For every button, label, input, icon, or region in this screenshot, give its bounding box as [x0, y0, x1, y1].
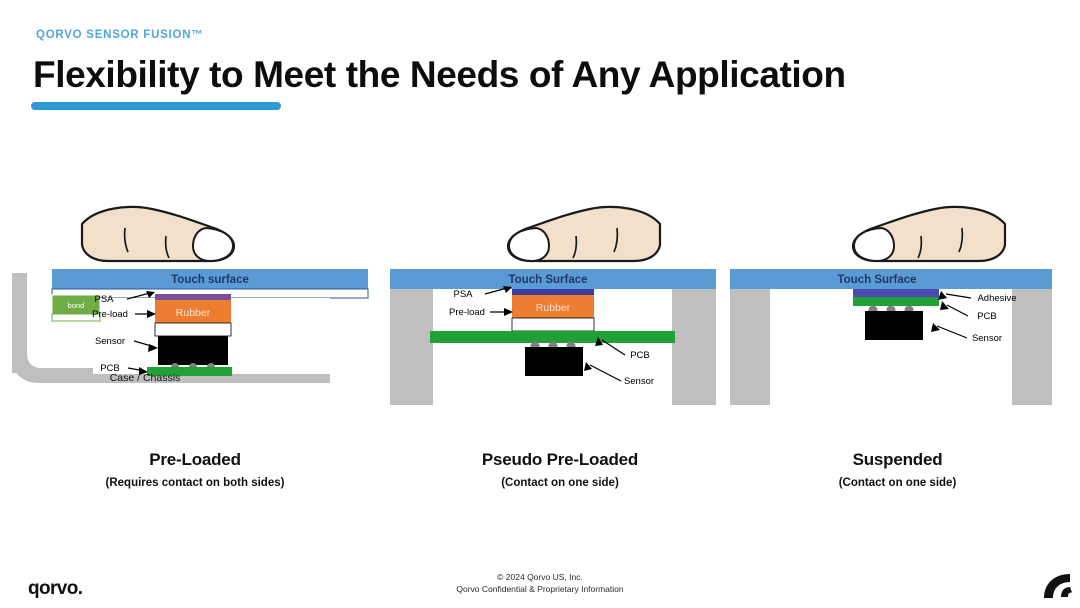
- psa-layer-2: [512, 289, 594, 295]
- callout-pcb-3: PCB: [977, 311, 997, 322]
- callout-sensor-2: Sensor: [624, 376, 654, 387]
- panel-suspended: Touch Surface Adhesive: [725, 195, 1080, 410]
- case-chassis-label: Case / Chassis: [110, 372, 181, 384]
- caption-suspended: Suspended (Contact on one side): [720, 450, 1075, 489]
- callout-sensor-3: Sensor: [972, 333, 1002, 344]
- touch-surface-label-1: Touch surface: [171, 274, 249, 286]
- rubber-label-2: Rubber: [536, 302, 571, 314]
- bond-label: bond: [68, 301, 85, 310]
- callout-pcb-2: PCB: [630, 350, 650, 361]
- adhesive-layer-3: [853, 289, 939, 297]
- caption-title-3: Suspended: [720, 450, 1075, 470]
- pillar-right-3: [1012, 289, 1052, 405]
- suspended-diagram: Touch Surface Adhesive: [725, 195, 1080, 410]
- caption-pre-loaded: Pre-Loaded (Requires contact on both sid…: [0, 450, 390, 489]
- callout-preload-2: Pre-load: [449, 307, 485, 318]
- pcb-bar-3: [853, 297, 939, 306]
- callout-psa-1: PSA: [94, 294, 114, 305]
- rubber-label-1: Rubber: [176, 307, 211, 319]
- caption-sub-1: (Requires contact on both sides): [0, 477, 390, 489]
- callout-adhesive-3: Adhesive: [977, 293, 1016, 304]
- sensor-block-2: [525, 347, 583, 376]
- finger-illustration: [82, 207, 234, 261]
- finger-illustration: [508, 207, 660, 261]
- callout-psa-2: PSA: [453, 289, 473, 300]
- sensor-block-1: [158, 336, 228, 365]
- footer-legal: © 2024 Qorvo US, Inc. Qorvo Confidential…: [0, 572, 1080, 595]
- footer-copyright: © 2024 Qorvo US, Inc.: [0, 572, 1080, 584]
- panel-pre-loaded: Touch surface bond Rubber: [0, 195, 390, 410]
- caption-title-2: Pseudo Pre-Loaded: [390, 450, 730, 470]
- pillar-left-3: [730, 289, 770, 405]
- caption-sub-2: (Contact on one side): [390, 477, 730, 489]
- qorvo-corner-mark-icon: [1034, 564, 1080, 608]
- caption-sub-3: (Contact on one side): [720, 477, 1075, 489]
- panel-pseudo-pre-loaded: Touch Surface Rubber: [390, 195, 730, 410]
- caption-pseudo-pre-loaded: Pseudo Pre-Loaded (Contact on one side): [390, 450, 730, 489]
- pre-loaded-diagram: Touch surface bond Rubber: [0, 195, 390, 410]
- psa-layer-1: [155, 294, 231, 300]
- callout-leaders-3: [937, 294, 971, 338]
- pseudo-pre-loaded-diagram: Touch Surface Rubber: [390, 195, 730, 410]
- eyebrow-label: QORVO SENSOR FUSION™: [36, 29, 204, 41]
- pcb-bar-2: [430, 331, 675, 343]
- callout-sensor-1: Sensor: [95, 336, 125, 347]
- pillar-right-2: [672, 289, 716, 405]
- qorvo-logo: qorvo.: [28, 578, 82, 600]
- finger-illustration: [853, 207, 1005, 261]
- sensor-block-3: [865, 311, 923, 340]
- callout-preload-1: Pre-load: [92, 309, 128, 320]
- caption-title-1: Pre-Loaded: [0, 450, 390, 470]
- footer-confidential: Qorvo Confidential & Proprietary Informa…: [0, 584, 1080, 596]
- touch-surface-label-3: Touch Surface: [837, 274, 916, 286]
- touch-surface-label-2: Touch Surface: [508, 274, 587, 286]
- title-accent-bar: [31, 102, 281, 110]
- page-title: Flexibility to Meet the Needs of Any App…: [33, 54, 846, 96]
- pillar-left-2: [390, 289, 433, 405]
- slide-root: QORVO SENSOR FUSION™ Flexibility to Meet…: [0, 0, 1080, 608]
